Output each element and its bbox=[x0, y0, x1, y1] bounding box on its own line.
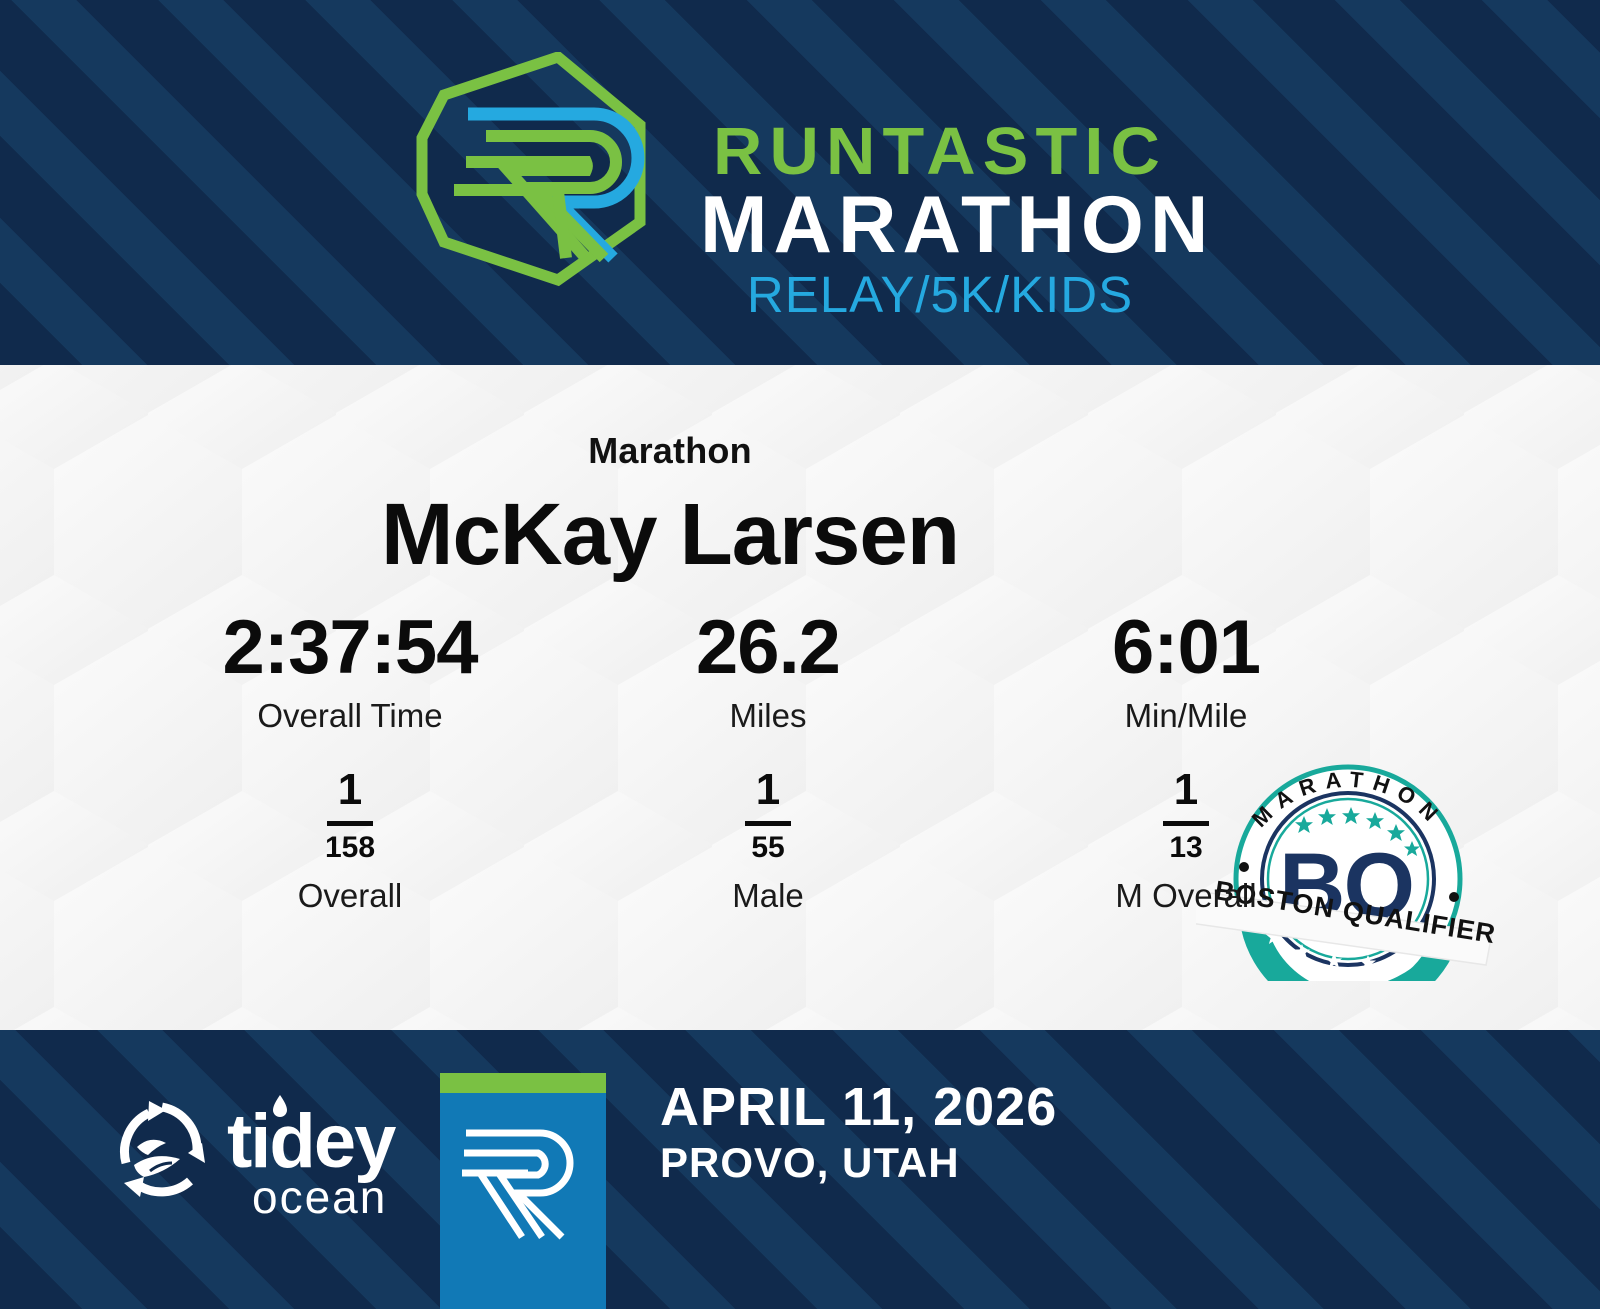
race-category: Marathon bbox=[130, 430, 1210, 472]
rank-total: 13 bbox=[1016, 833, 1356, 863]
rank-position: 1 bbox=[1016, 768, 1356, 812]
stat-value: 6:01 bbox=[1016, 610, 1356, 686]
brand-wordmark: RUNTASTIC MARATHON RELAY/5K/KIDS bbox=[700, 120, 1180, 322]
event-info: APRIL 11, 2026 PROVO, UTAH bbox=[660, 1078, 1360, 1187]
runtastic-banner bbox=[440, 1073, 606, 1309]
brand-logo-row: RUNTASTIC MARATHON RELAY/5K/KIDS bbox=[0, 0, 1600, 365]
rank-position: 1 bbox=[598, 768, 938, 812]
banner-green-cap bbox=[440, 1073, 606, 1093]
rank-divider bbox=[1163, 821, 1209, 826]
brand-subtitle: RELAY/5K/KIDS bbox=[700, 268, 1180, 322]
rank-total: 55 bbox=[598, 833, 938, 863]
stat-label: Miles bbox=[598, 699, 938, 732]
sponsor-name-line2: ocean bbox=[252, 1171, 387, 1220]
rank-position: 1 bbox=[180, 768, 520, 812]
athlete-name: McKay Larsen bbox=[130, 485, 1210, 585]
rank-label: Male bbox=[598, 879, 938, 912]
stat-column-pace: 6:01 Min/Mile 1 13 M Overall bbox=[1016, 610, 1356, 912]
header-banner: RUNTASTIC MARATHON RELAY/5K/KIDS bbox=[0, 0, 1600, 365]
rank-label: Overall bbox=[180, 879, 520, 912]
stat-column-overall-time: 2:37:54 Overall Time 1 158 Overall bbox=[180, 610, 520, 912]
runtastic-r-hexagon-icon bbox=[408, 52, 658, 287]
race-result-card: RUNTASTIC MARATHON RELAY/5K/KIDS bbox=[0, 0, 1600, 1309]
rank-divider bbox=[327, 821, 373, 826]
runtastic-r-banner-icon bbox=[458, 1115, 588, 1245]
rank-block: 1 158 Overall bbox=[180, 768, 520, 912]
rank-block: 1 55 Male bbox=[598, 768, 938, 912]
rank-divider bbox=[745, 821, 791, 826]
results-panel: Marathon McKay Larsen MARATHON bbox=[0, 365, 1600, 1030]
rank-total: 158 bbox=[180, 833, 520, 863]
rank-label: M Overall bbox=[1016, 879, 1356, 912]
brand-name-line1: RUNTASTIC bbox=[695, 120, 1185, 184]
event-date: APRIL 11, 2026 bbox=[660, 1078, 1360, 1136]
event-location: PROVO, UTAH bbox=[660, 1140, 1360, 1186]
stat-value: 26.2 bbox=[598, 610, 938, 686]
stat-label: Min/Mile bbox=[1016, 699, 1356, 732]
rank-block: 1 13 M Overall bbox=[1016, 768, 1356, 912]
stat-label: Overall Time bbox=[180, 699, 520, 732]
brand-name-line2: MARATHON bbox=[700, 184, 1180, 267]
stat-value: 2:37:54 bbox=[180, 610, 520, 686]
tidey-ocean-logo-icon: tidey ocean bbox=[104, 1085, 404, 1220]
stat-column-miles: 26.2 Miles 1 55 Male bbox=[598, 610, 938, 912]
